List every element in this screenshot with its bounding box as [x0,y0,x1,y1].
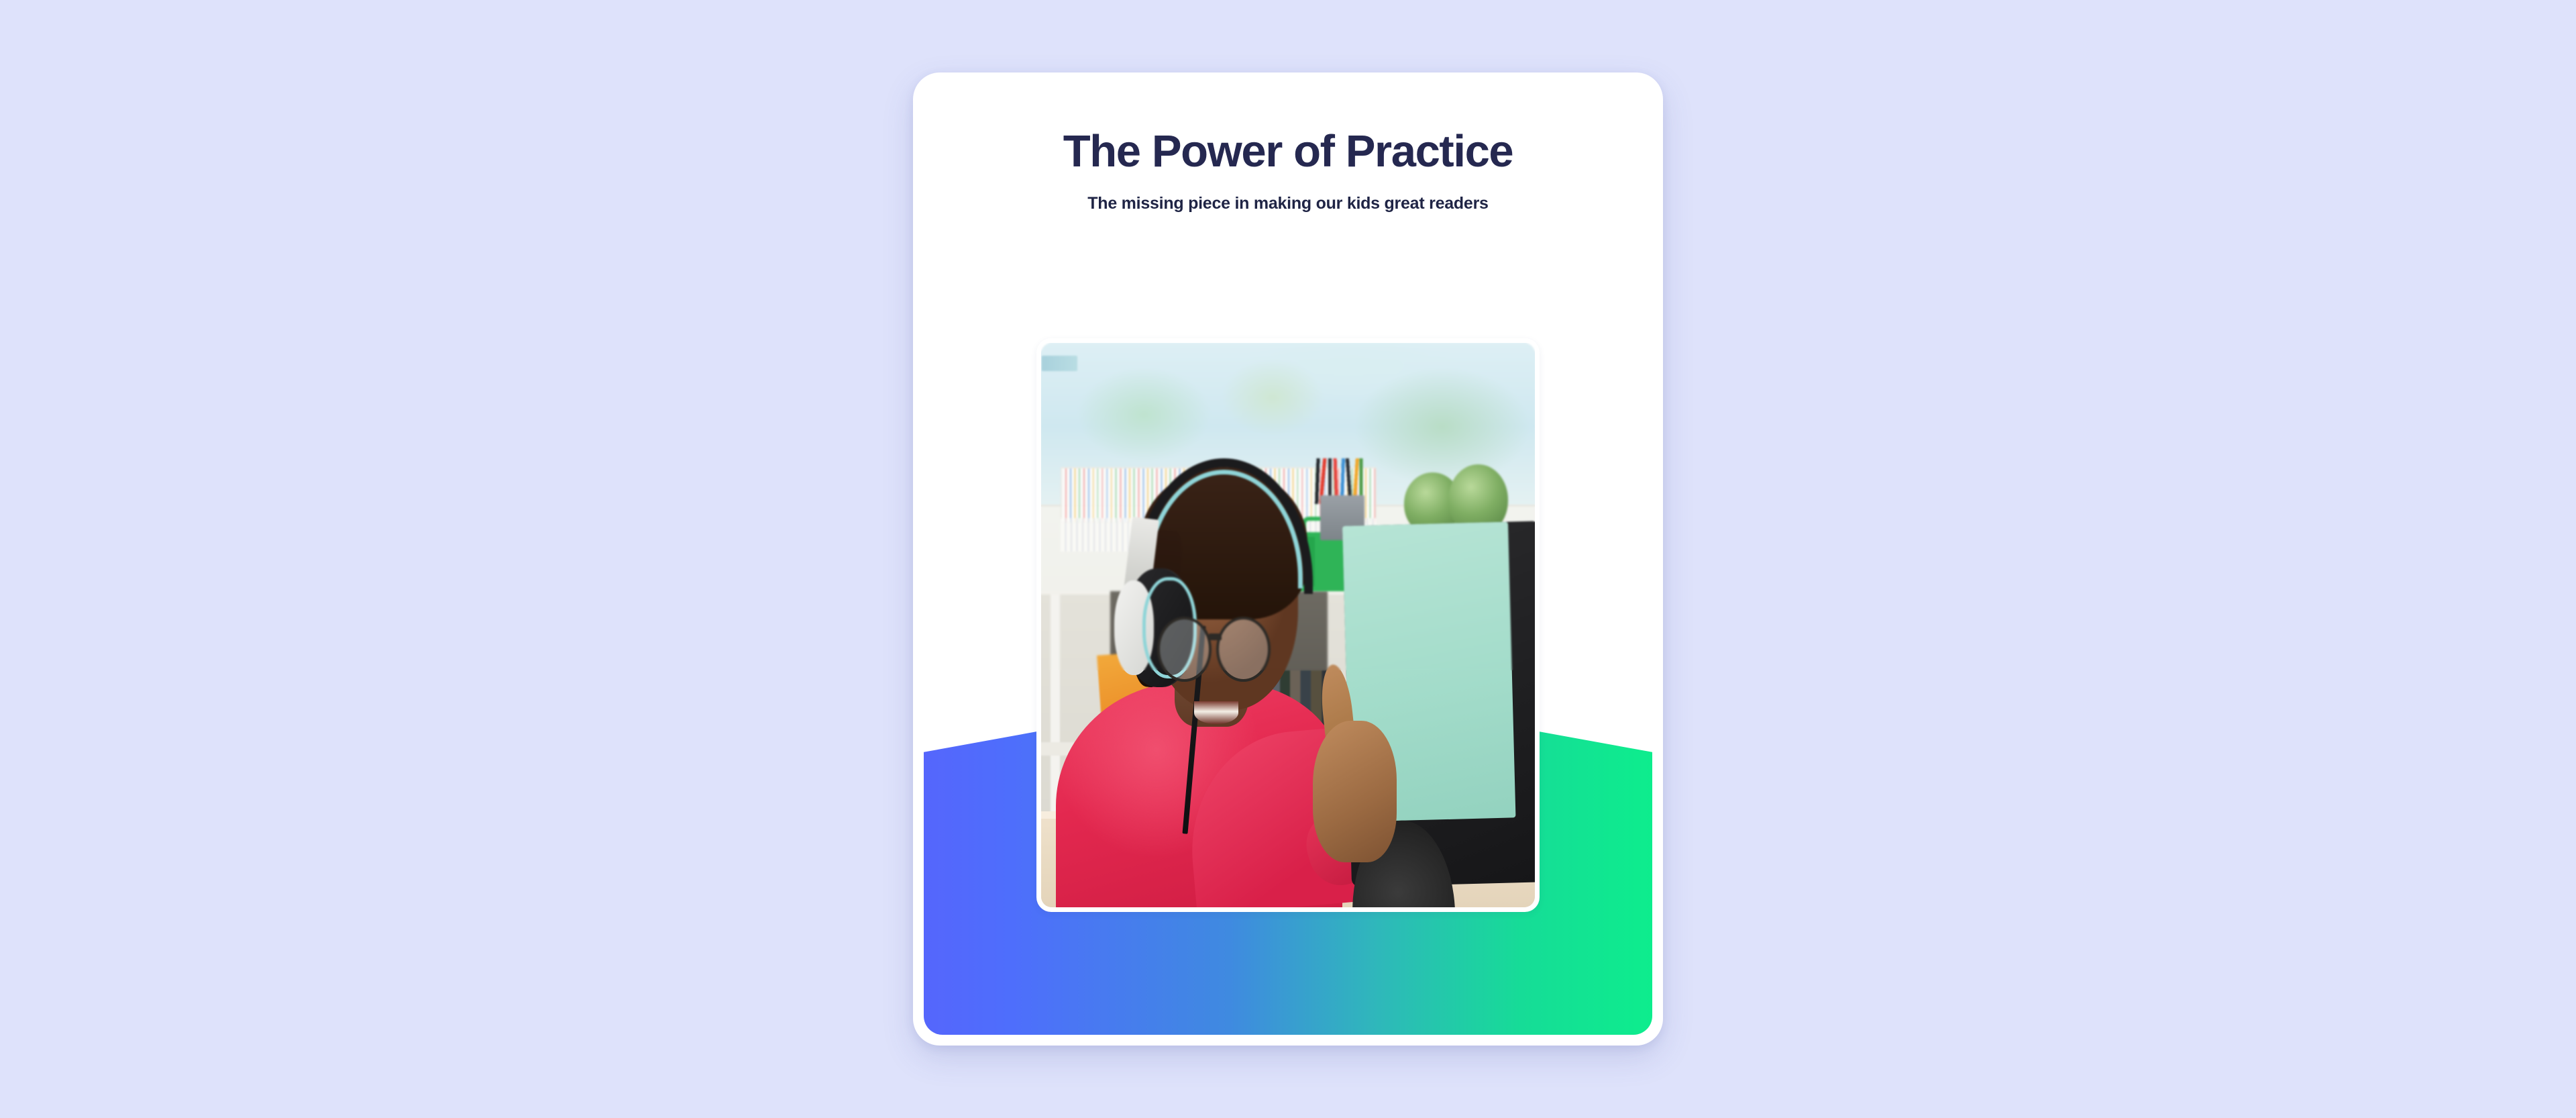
cover-card: The Power of Practice The missing piece … [913,72,1663,1046]
cover-card-inner: The Power of Practice The missing piece … [924,83,1652,1035]
page-subtitle: The missing piece in making our kids gre… [964,194,1612,213]
cover-header: The Power of Practice The missing piece … [924,83,1652,213]
page-title: The Power of Practice [964,128,1612,175]
student-hand [1313,721,1397,862]
glasses-bridge [1209,633,1221,640]
cover-photo [1041,343,1535,907]
glasses-lens-right [1216,617,1271,682]
student-smile [1194,701,1238,724]
cover-photo-frame [1036,338,1540,912]
glasses-icon [1157,617,1212,682]
